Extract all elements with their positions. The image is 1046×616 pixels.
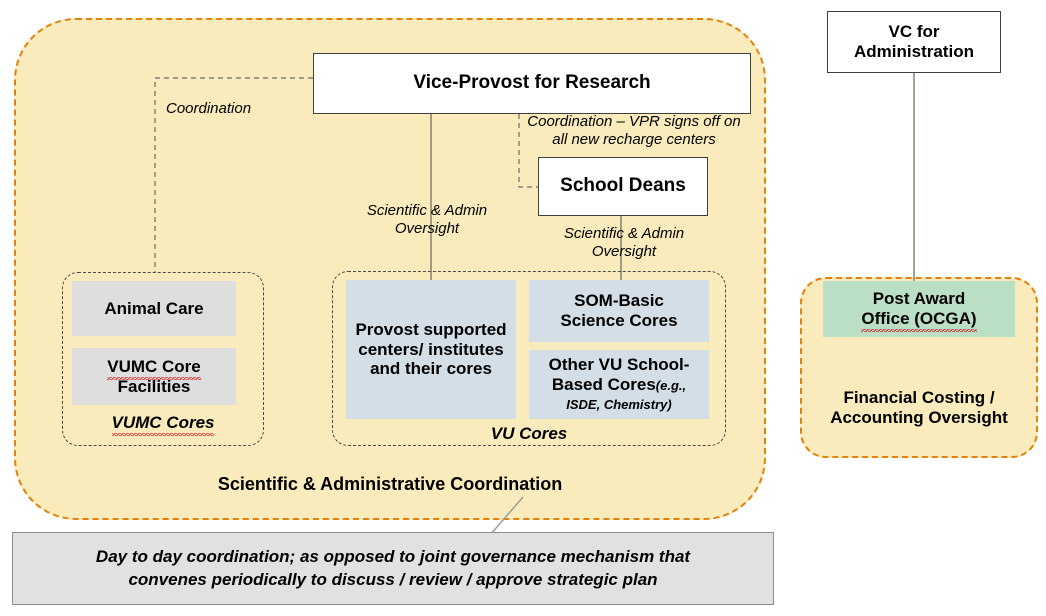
footnote-line2: convenes periodically to discuss / revie… [128,570,657,589]
vice-provost-label: Vice-Provost for Research [413,72,650,94]
vc-for-administration-box[interactable]: VC for Administration [827,11,1001,73]
card-animal-care[interactable]: Animal Care [72,281,236,336]
provost-supported-centers-label: Provost supported centers/ institutes an… [352,320,510,379]
edge-label-scientific-admin-oversight-left: Scientific & Admin Oversight [352,202,502,239]
post-award-office-label: Post Award Office (OCGA) [861,289,976,328]
card-som-basic-science-cores[interactable]: SOM-Basic Science Cores [529,280,709,342]
animal-care-label: Animal Care [104,299,203,319]
card-provost-supported-centers[interactable]: Provost supported centers/ institutes an… [346,280,516,419]
school-deans-box[interactable]: School Deans [538,157,708,216]
vumc-cores-caption-text: VUMC Cores [112,413,215,433]
card-post-award-office[interactable]: Post Award Office (OCGA) [823,281,1015,337]
card-vumc-core-facilities[interactable]: VUMC Core Facilities [72,348,236,405]
edge-label-coordination-vpr-signoff: Coordination – VPR signs off on all new … [518,113,750,150]
vc-administration-line1: VC for [888,22,939,41]
footnote-box: Day to day coordination; as opposed to j… [12,532,774,605]
vc-administration-label: VC for Administration [854,22,974,61]
post-award-line2-misspelled: Office (OCGA) [861,309,976,329]
edge-label-scientific-admin-oversight-right: Scientific & Admin Oversight [548,225,700,262]
diagram-canvas: Vice-Provost for Research School Deans V… [0,0,1046,616]
vumc-core-line1-misspelled: VUMC Core [107,357,201,377]
card-other-vu-school-based-cores[interactable]: Other VU School-Based Cores(e.g., ISDE, … [529,350,709,419]
other-vu-cores-label: Other VU School-Based Cores(e.g., ISDE, … [534,355,704,414]
som-card-line2: Science Cores [560,311,677,330]
financial-oversight-caption: Financial Costing / Accounting Oversight [802,388,1036,429]
som-basic-science-cores-label: SOM-Basic Science Cores [560,291,677,330]
finance-caption-line1: Financial Costing / [843,388,994,407]
vc-administration-line2: Administration [854,42,974,61]
vice-provost-for-research-box[interactable]: Vice-Provost for Research [313,53,751,114]
vumc-core-facilities-label: VUMC Core Facilities [107,357,201,396]
som-card-line1: SOM-Basic [574,291,664,310]
finance-caption-line2: Accounting Oversight [830,408,1008,427]
school-deans-label: School Deans [560,175,686,197]
post-award-line1: Post Award [873,289,966,308]
vumc-cores-group-caption: VUMC Cores [62,413,264,433]
main-panel-caption: Scientific & Administrative Coordination [14,474,766,496]
footnote-line1: Day to day coordination; as opposed to j… [96,547,690,566]
footnote-text: Day to day coordination; as opposed to j… [96,546,690,591]
vu-cores-group-caption: VU Cores [332,424,726,444]
vu-cores-caption-text: VU Cores [491,424,568,443]
edge-label-coordination: Coordination [166,100,326,118]
